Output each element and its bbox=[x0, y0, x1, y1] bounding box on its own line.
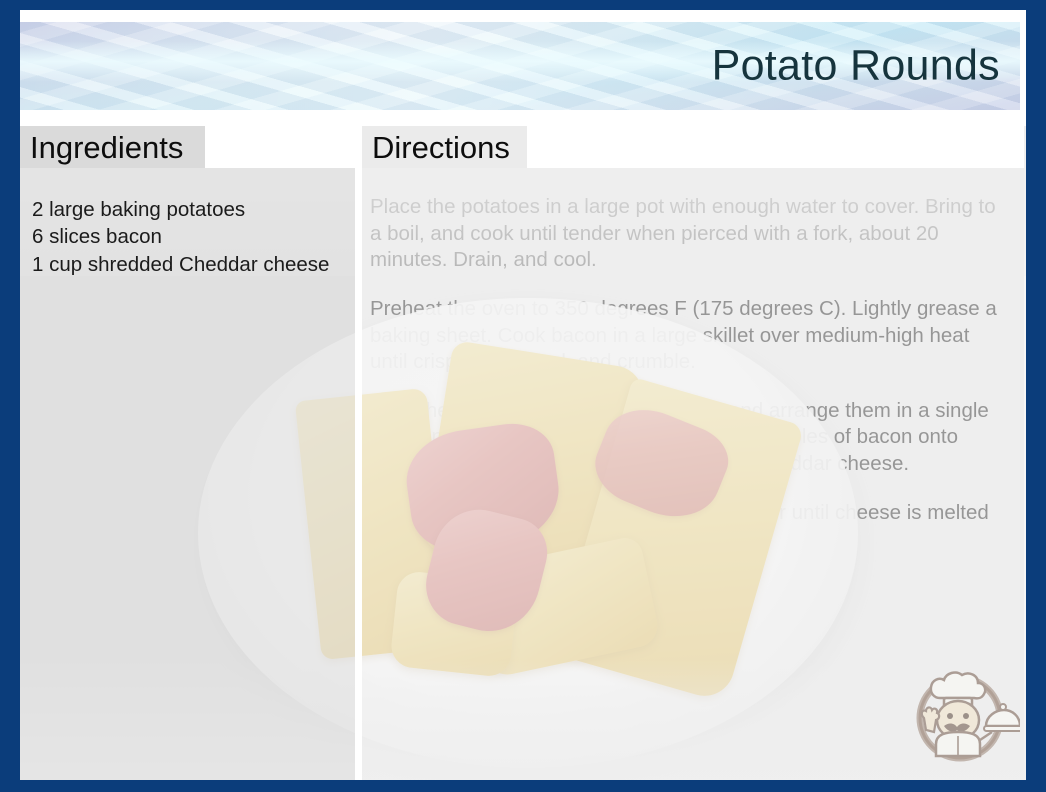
ingredients-list: 2 large baking potatoes 6 slices bacon 1… bbox=[32, 196, 339, 278]
list-item: 6 slices bacon bbox=[32, 223, 339, 250]
directions-tab-gap bbox=[527, 126, 1024, 168]
direction-step: Preheat the oven to 350 degrees F (175 d… bbox=[370, 296, 1002, 376]
content-columns: Ingredients 2 large baking potatoes 6 sl… bbox=[20, 126, 1026, 780]
ingredients-panel: 2 large baking potatoes 6 slices bacon 1… bbox=[20, 168, 355, 780]
page-title: Potato Rounds bbox=[712, 42, 1000, 91]
direction-step: Place the potatoes in a large pot with e… bbox=[370, 194, 1002, 274]
recipe-page: Potato Rounds bbox=[20, 10, 1026, 780]
chef-logo bbox=[900, 652, 1020, 772]
ingredients-heading-tab: Ingredients bbox=[20, 126, 205, 168]
recipe-card: Potato Rounds bbox=[0, 0, 1046, 792]
ingredients-tab-gap bbox=[205, 126, 355, 168]
list-item: 2 large baking potatoes bbox=[32, 196, 339, 223]
list-item: 1 cup shredded Cheddar cheese bbox=[32, 251, 339, 278]
directions-heading-tab: Directions bbox=[362, 126, 527, 168]
directions-heading: Directions bbox=[372, 132, 510, 163]
direction-step: Slice the potatoes into 1/4 inch rounds,… bbox=[370, 398, 1002, 478]
ingredients-section: Ingredients 2 large baking potatoes 6 sl… bbox=[20, 126, 355, 780]
column-separator bbox=[355, 126, 362, 780]
directions-list: Place the potatoes in a large pot with e… bbox=[362, 168, 1024, 553]
direction-step: Bake for 15 minutes in the preheated ove… bbox=[370, 500, 1002, 553]
header-banner: Potato Rounds bbox=[20, 22, 1020, 110]
ingredients-heading: Ingredients bbox=[30, 132, 183, 163]
